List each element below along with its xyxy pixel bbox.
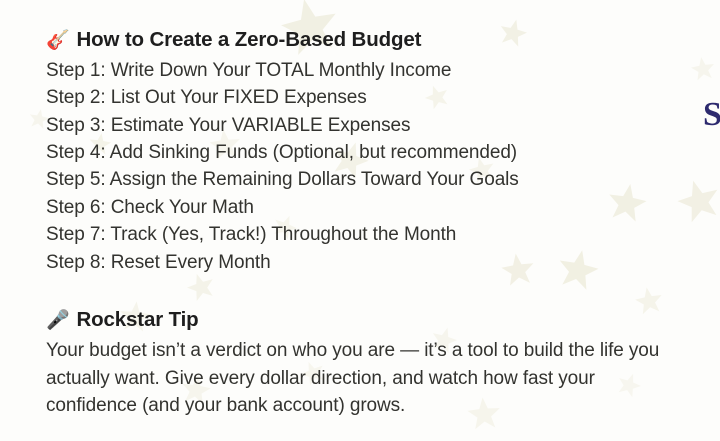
budget-steps-list: Step 1: Write Down Your TOTAL Monthly In… <box>46 57 720 276</box>
budget-step-item: Step 6: Check Your Math <box>46 194 720 221</box>
section-spacer <box>46 276 720 306</box>
budget-step-item: Step 2: List Out Your FIXED Expenses <box>46 84 720 111</box>
budget-section-heading: 🎸 How to Create a Zero-Based Budget <box>46 26 720 53</box>
cropped-edge-glyph: S <box>703 98 720 144</box>
budget-section-heading-text: How to Create a Zero-Based Budget <box>77 26 422 53</box>
budget-section: 🎸 How to Create a Zero-Based Budget Step… <box>46 26 720 276</box>
budget-step-item: Step 8: Reset Every Month <box>46 249 720 276</box>
microphone-icon: 🎤 <box>46 311 70 330</box>
tip-body-text: Your budget isn’t a verdict on who you a… <box>46 337 686 420</box>
rockstar-tip-section: 🎤 Rockstar Tip Your budget isn’t a verdi… <box>46 306 720 420</box>
budget-step-item: Step 3: Estimate Your VARIABLE Expenses <box>46 112 720 139</box>
budget-step-item: Step 4: Add Sinking Funds (Optional, but… <box>46 139 720 166</box>
tip-section-heading-text: Rockstar Tip <box>77 306 199 333</box>
budget-step-item: Step 5: Assign the Remaining Dollars Tow… <box>46 166 720 193</box>
guitar-icon: 🎸 <box>46 31 70 50</box>
tip-section-heading: 🎤 Rockstar Tip <box>46 306 720 333</box>
article-content: 🎸 How to Create a Zero-Based Budget Step… <box>0 0 720 441</box>
budget-step-item: Step 7: Track (Yes, Track!) Throughout t… <box>46 221 720 248</box>
budget-step-item: Step 1: Write Down Your TOTAL Monthly In… <box>46 57 720 84</box>
